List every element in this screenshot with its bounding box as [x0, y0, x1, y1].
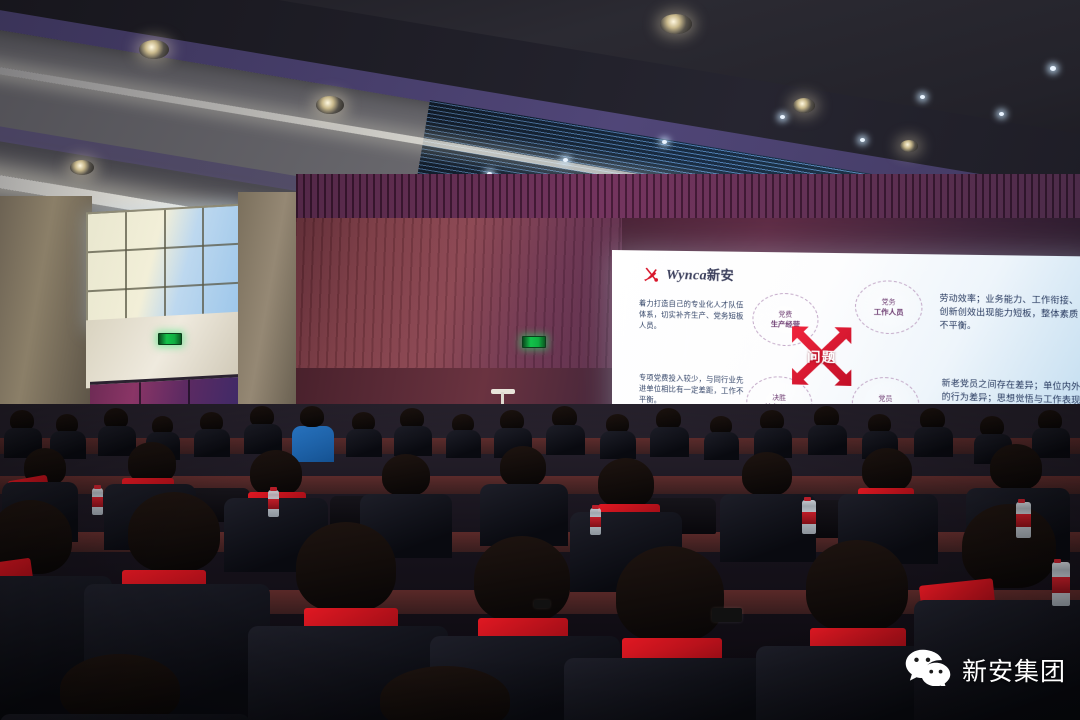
brand-latin: Wynca [666, 268, 707, 284]
water-bottle [802, 500, 816, 534]
bubble-line1: 党员 [879, 394, 893, 403]
exit-sign-icon [158, 333, 182, 345]
watermark: 新安集团 [905, 648, 1066, 691]
slide-text-top-left: 着力打造自己的专业化人才队伍体系，切实补齐生产、党务短板人员。 [639, 298, 744, 333]
ceiling-light-point [1050, 66, 1056, 71]
ceiling-light-point [662, 140, 667, 144]
stage-curtain-valance [296, 174, 1080, 218]
ceiling-light-point [999, 112, 1004, 116]
red-x-arrows-graphic: 问题 [783, 324, 860, 389]
slide-text-top-right: 劳动效率；业务能力、工作衔接、创新创效出现能力短板，整体素质不平衡。 [939, 292, 1080, 335]
wechat-logo [905, 648, 951, 691]
watermark-text: 新安集团 [962, 652, 1066, 688]
ceiling-light-point [920, 95, 925, 99]
ceiling-light-point [563, 158, 568, 162]
water-bottle [268, 490, 279, 517]
smartphone-on-desk [712, 608, 742, 622]
exit-sign-icon [522, 336, 546, 348]
slide-brand-text: Wynca新安 [666, 264, 734, 285]
ceiling-light-point [780, 115, 785, 119]
water-bottle [92, 488, 103, 515]
attendee-blue-shirt [292, 426, 334, 462]
ceiling-downlight [316, 96, 344, 114]
ceiling-downlight [793, 98, 815, 113]
slide-logo: Wynca新安 [642, 263, 734, 285]
water-bottle [1052, 562, 1070, 606]
ceiling-downlight [70, 160, 94, 175]
smartphone-on-desk [534, 600, 550, 608]
cpc-hammer-sickle-emblem [642, 265, 659, 282]
water-bottle [1016, 502, 1031, 538]
bubble-line1: 党费 [779, 310, 793, 319]
bubble-line1: 党务 [882, 298, 896, 307]
x-center-label: 问题 [783, 345, 860, 366]
conference-photo-scene: Wynca新安 着力打造自己的专业化人才队伍体系，切实补齐生产、党务短板人员。 … [0, 0, 1080, 720]
ceiling-light-point [860, 138, 865, 142]
bubble-line2: 工作人员 [874, 307, 904, 317]
slide-bubble-2: 党务 工作人员 [855, 280, 922, 335]
ceiling-downlight [139, 40, 169, 59]
ceiling-downlight [900, 140, 918, 152]
bubble-line1: 决胜 [772, 393, 786, 402]
water-bottle [590, 508, 601, 535]
brand-cn: 新安 [707, 268, 734, 284]
ceiling-downlight [660, 14, 692, 34]
